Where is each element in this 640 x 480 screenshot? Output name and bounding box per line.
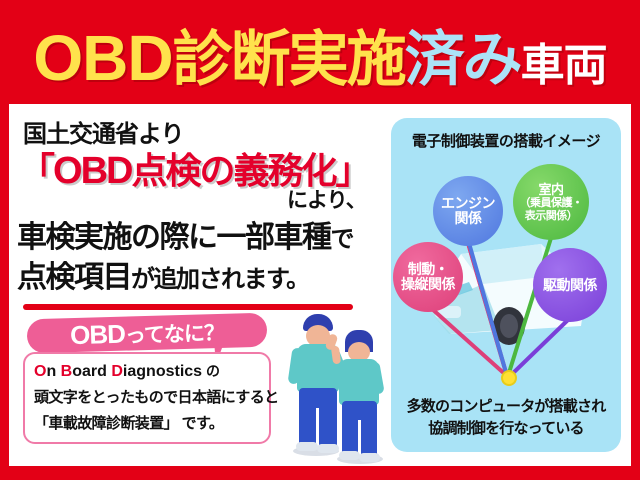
header-sharyou: 車両 bbox=[521, 29, 607, 93]
header-shindan-jisshi: 診断実施 bbox=[173, 11, 405, 98]
inspection-line-4: 点検項目が追加されます。 bbox=[17, 252, 309, 296]
line-engine bbox=[469, 243, 507, 376]
callout-cabin-line3: 表示関係） bbox=[520, 210, 583, 223]
callout-drive-text: 駆動関係 bbox=[543, 278, 597, 293]
line4-main: 点検項目 bbox=[17, 261, 131, 294]
obd-definition-box: On Board Diagnostics の 頭文字をとったもので日本語にすると… bbox=[23, 352, 271, 444]
header-banner: OBD 診断実施 済み 車両 bbox=[0, 0, 640, 104]
callout-engine-line1: エンジン bbox=[441, 196, 495, 211]
definition-line-2: 頭文字をとったもので日本語にすると bbox=[34, 386, 260, 407]
callout-cabin-line2: （乗員保護・ bbox=[520, 197, 583, 210]
header-zumi: 済み bbox=[405, 11, 521, 98]
line3-tail: で bbox=[331, 226, 354, 253]
def-iagnostics: iagnostics bbox=[123, 363, 202, 380]
def-no-particle: の bbox=[202, 363, 220, 379]
callout-drive: 駆動関係 bbox=[533, 248, 607, 322]
callout-brake-line1: 制動・ bbox=[401, 262, 455, 277]
niyori-text: により、 bbox=[287, 184, 366, 214]
def-oard: oard bbox=[72, 363, 111, 380]
callout-engine-line2: 関係 bbox=[441, 211, 495, 226]
person-right-shoe-right bbox=[359, 453, 380, 462]
quote-obd: OBD bbox=[53, 150, 131, 192]
left-column: 国土交通省より 「OBD点検の義務化」 により、 車検実施の際に一部車種で 点検… bbox=[9, 104, 381, 466]
card-caption-line1: 多数のコンピュータが搭載され bbox=[391, 396, 621, 418]
definition-line-1: On Board Diagnostics の bbox=[34, 361, 260, 381]
line4-mid: が追加 bbox=[131, 266, 199, 293]
definition-line-3: 「車載故障診断装置」 です。 bbox=[34, 412, 260, 433]
quote-open-bracket: 「 bbox=[19, 150, 53, 191]
def-initial-o: O bbox=[34, 363, 46, 380]
person-right-pointing-hand bbox=[331, 346, 341, 365]
callout-engine-text: エンジン 関係 bbox=[441, 196, 495, 226]
person-left-shoe-left bbox=[296, 442, 318, 451]
section-divider bbox=[23, 304, 353, 310]
inspection-line-3: 車検実施の際に一部車種で bbox=[17, 212, 353, 256]
callout-cabin: 室内 （乗員保護・ 表示関係） bbox=[513, 164, 589, 240]
callout-cabin-line1: 室内 bbox=[520, 182, 583, 197]
line4-tail: されます。 bbox=[199, 266, 309, 293]
callout-brake-line2: 操縦関係 bbox=[401, 277, 455, 292]
content-panel: 国土交通省より 「OBD点検の義務化」 により、 車検実施の際に一部車種で 点検… bbox=[9, 104, 631, 466]
person-left-shoe-right bbox=[317, 444, 339, 453]
obd-question-text: OBDってなに？ bbox=[70, 315, 225, 350]
card-caption-line2: 協調制御を行なっている bbox=[391, 418, 621, 440]
callout-brake-text: 制動・ 操縦関係 bbox=[401, 262, 455, 292]
def-initial-b: B bbox=[61, 363, 73, 380]
callout-cabin-text: 室内 （乗員保護・ 表示関係） bbox=[520, 182, 583, 223]
ecu-diagram-card: 電子制御装置の搭載イメージ bbox=[391, 118, 621, 452]
def-n: n bbox=[46, 363, 60, 380]
callout-drive-line1: 駆動関係 bbox=[543, 278, 597, 293]
ecu-hub-dot bbox=[501, 370, 517, 386]
card-caption: 多数のコンピュータが搭載され 協調制御を行なっている bbox=[391, 396, 621, 440]
bubble-kana: ってなに？ bbox=[125, 321, 225, 347]
people-illustration bbox=[279, 312, 389, 462]
person-right-shoe-left bbox=[339, 451, 360, 460]
callout-brake: 制動・ 操縦関係 bbox=[393, 242, 463, 312]
callout-engine: エンジン 関係 bbox=[433, 176, 503, 246]
header-obd: OBD bbox=[33, 21, 172, 95]
header-text: OBD 診断実施 済み 車両 bbox=[33, 11, 606, 98]
bubble-obd: OBD bbox=[70, 318, 126, 350]
def-initial-d: D bbox=[111, 363, 123, 380]
person-left-leg-split bbox=[316, 408, 319, 448]
poster-root: OBD 診断実施 済み 車両 国土交通省より 「OBD点検の義務化」 により、 … bbox=[0, 0, 640, 480]
line3-main: 車検実施の際に一部車種 bbox=[17, 221, 331, 254]
